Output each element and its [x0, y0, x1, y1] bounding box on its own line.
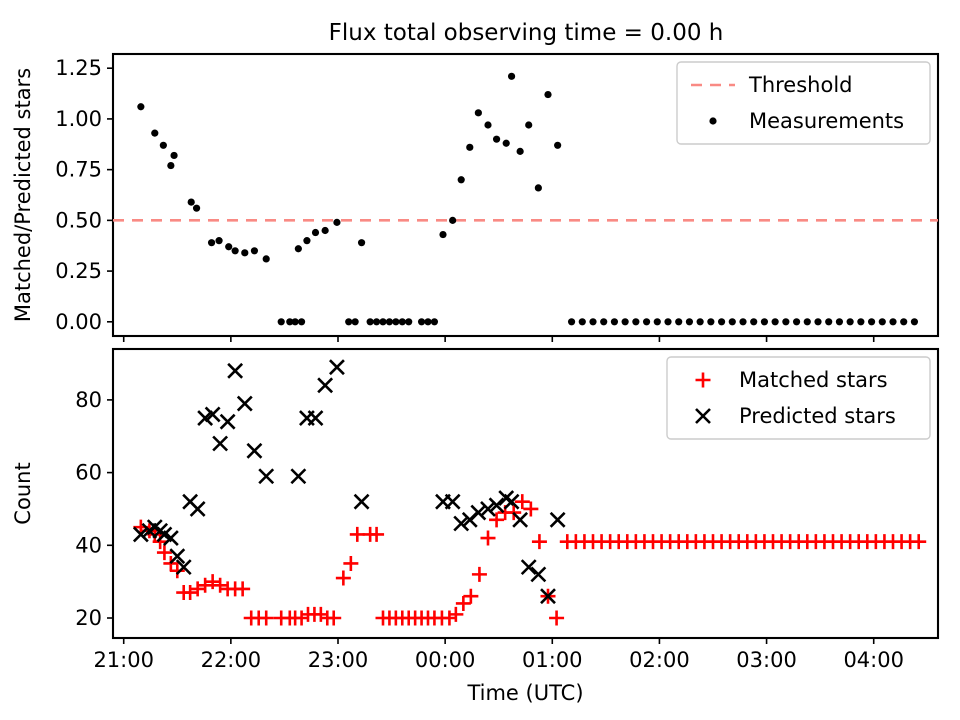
measurement-point — [847, 318, 854, 325]
measurement-point — [399, 318, 406, 325]
x-tick-label: 04:00 — [843, 648, 904, 672]
measurement-point — [418, 318, 425, 325]
measurement-point — [431, 318, 438, 325]
measurement-point — [589, 318, 596, 325]
measurement-point — [170, 152, 177, 159]
y-tick-label: 60 — [75, 461, 102, 485]
measurement-point — [868, 318, 875, 325]
x-tick-label: 02:00 — [629, 648, 690, 672]
measurement-point — [424, 318, 431, 325]
measurement-point — [295, 245, 302, 252]
measurement-point — [241, 249, 248, 256]
x-tick-label: 22:00 — [201, 648, 262, 672]
y-tick-label: 80 — [75, 388, 102, 412]
measurement-point — [379, 318, 386, 325]
measurement-point — [137, 103, 144, 110]
measurement-point — [193, 205, 200, 212]
measurement-point — [493, 136, 500, 143]
measurement-point — [503, 140, 510, 147]
measurement-point — [718, 318, 725, 325]
measurement-point — [568, 318, 575, 325]
y-tick-label: 0.50 — [55, 208, 102, 232]
measurement-point — [814, 318, 821, 325]
measurement-point — [439, 231, 446, 238]
measurement-point — [160, 142, 167, 149]
measurement-point — [739, 318, 746, 325]
y-tick-label: 0.00 — [55, 310, 102, 334]
legend-measurements-swatch — [709, 117, 716, 124]
measurement-point — [707, 318, 714, 325]
measurement-point — [278, 318, 285, 325]
measurement-point — [405, 318, 412, 325]
legend-label: Matched stars — [739, 368, 888, 392]
x-tick-label: 01:00 — [522, 648, 583, 672]
legend: Matched starsPredicted stars — [667, 357, 930, 439]
measurement-point — [517, 148, 524, 155]
measurement-point — [611, 318, 618, 325]
measurement-point — [675, 318, 682, 325]
y-tick-label: 20 — [75, 606, 102, 630]
y-axis-title: Matched/Predicted stars — [11, 68, 35, 322]
measurement-point — [544, 91, 551, 98]
measurement-point — [358, 239, 365, 246]
figure-title: Flux total observing time = 0.00 h — [329, 20, 724, 46]
figure-canvas: Flux total observing time = 0.00 h 0.000… — [0, 0, 960, 720]
measurement-point — [322, 227, 329, 234]
measurement-point — [793, 318, 800, 325]
measurement-point — [484, 121, 491, 128]
measurement-point — [632, 318, 639, 325]
measurement-point — [782, 318, 789, 325]
measurement-point — [232, 247, 239, 254]
measurement-point — [750, 318, 757, 325]
measurement-point — [879, 318, 886, 325]
measurement-point — [225, 243, 232, 250]
x-axis-title: Time (UTC) — [466, 681, 583, 705]
measurement-point — [525, 121, 532, 128]
measurement-point — [654, 318, 661, 325]
measurement-point — [466, 144, 473, 151]
measurement-point — [836, 318, 843, 325]
measurement-point — [664, 318, 671, 325]
measurement-point — [458, 176, 465, 183]
measurement-point — [151, 130, 158, 137]
y-axis-title: Count — [11, 462, 35, 524]
y-tick-label: 40 — [75, 533, 102, 557]
measurement-point — [449, 217, 456, 224]
measurement-point — [772, 318, 779, 325]
measurement-point — [215, 237, 222, 244]
measurement-point — [373, 318, 380, 325]
measurement-point — [554, 142, 561, 149]
legend: ThresholdMeasurements — [677, 62, 930, 144]
measurement-point — [312, 229, 319, 236]
y-tick-label: 0.75 — [55, 158, 102, 182]
measurement-point — [303, 237, 310, 244]
plot-svg: Flux total observing time = 0.00 h 0.000… — [0, 0, 960, 720]
y-tick-label: 1.00 — [55, 107, 102, 131]
measurement-point — [386, 318, 393, 325]
measurement-point — [686, 318, 693, 325]
measurement-point — [729, 318, 736, 325]
y-tick-label: 0.25 — [55, 259, 102, 283]
x-tick-label: 21:00 — [93, 648, 154, 672]
measurement-point — [600, 318, 607, 325]
measurement-point — [889, 318, 896, 325]
measurement-point — [367, 318, 374, 325]
measurement-point — [857, 318, 864, 325]
measurement-point — [579, 318, 586, 325]
measurement-point — [643, 318, 650, 325]
measurement-point — [167, 162, 174, 169]
legend-label: Threshold — [748, 73, 853, 97]
measurement-point — [825, 318, 832, 325]
measurement-point — [188, 199, 195, 206]
y-tick-label: 1.25 — [55, 56, 102, 80]
measurement-point — [622, 318, 629, 325]
measurement-point — [697, 318, 704, 325]
x-tick-label: 23:00 — [308, 648, 369, 672]
measurement-point — [352, 318, 359, 325]
measurement-point — [208, 239, 215, 246]
measurement-point — [263, 255, 270, 262]
measurement-point — [508, 73, 515, 80]
measurement-point — [761, 318, 768, 325]
measurement-point — [475, 109, 482, 116]
x-tick-label: 03:00 — [736, 648, 797, 672]
measurement-point — [911, 318, 918, 325]
measurement-point — [392, 318, 399, 325]
measurement-point — [900, 318, 907, 325]
measurement-point — [345, 318, 352, 325]
measurement-point — [333, 219, 340, 226]
measurement-point — [804, 318, 811, 325]
legend-label: Measurements — [749, 109, 904, 133]
legend-label: Predicted stars — [739, 404, 896, 428]
measurement-point — [251, 247, 258, 254]
x-tick-label: 00:00 — [415, 648, 476, 672]
measurement-point — [292, 318, 299, 325]
measurement-point — [535, 184, 542, 191]
measurement-point — [298, 318, 305, 325]
